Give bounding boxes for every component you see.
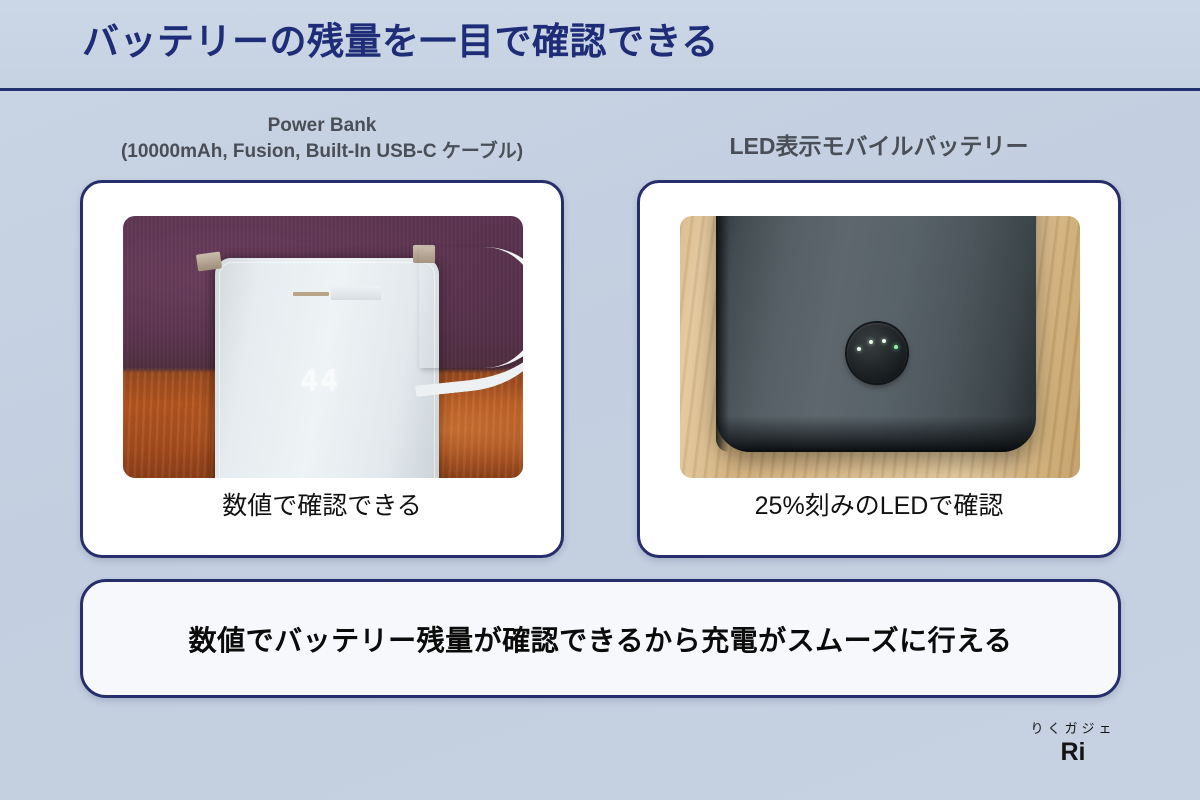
watermark-logo-text: Ri	[1008, 738, 1138, 767]
card-caption-right: 25%刻みのLEDで確認	[640, 486, 1118, 522]
card-caption-left: 数値で確認できる	[83, 486, 561, 522]
header-divider	[0, 88, 1200, 91]
column-heading-right: LED表示モバイルバッテリー	[637, 131, 1121, 162]
summary-banner-text: 数値でバッテリー残量が確認できるから充電がスムーズに行える	[189, 619, 1013, 659]
slide-canvas: バッテリーの残量を一目で確認できる Power Bank (10000mAh, …	[0, 0, 1200, 800]
usb-port-housing	[331, 286, 380, 300]
white-power-bank-photo: 44	[123, 216, 523, 478]
column-heading-left: Power Bank (10000mAh, Fusion, Built-In U…	[80, 113, 564, 164]
led-indicator-dot-4	[894, 345, 898, 349]
led-indicator-dot-2	[869, 340, 873, 344]
header-bar: バッテリーの残量を一目で確認できる	[0, 0, 1200, 89]
brand-watermark: りくガジェ Ri	[1008, 722, 1138, 767]
watermark-kana: りくガジェ	[1008, 722, 1138, 736]
summary-banner: 数値でバッテリー残量が確認できるから充電がスムーズに行える	[80, 579, 1121, 698]
column-heading-left-line1: Power Bank	[80, 113, 564, 139]
page-title: バッテリーの残量を一目で確認できる	[82, 19, 719, 65]
product-card-left: 44 数値で確認できる	[80, 180, 564, 558]
power-bank-side-edge	[716, 216, 729, 452]
white-power-bank-body: 44	[215, 258, 439, 478]
cable-slot	[293, 292, 329, 296]
usb-connector-left-icon	[196, 251, 222, 271]
led-indicator-dot-3	[882, 339, 886, 343]
column-heading-left-line2: (10000mAh, Fusion, Built-In USB-C ケーブル)	[80, 139, 564, 165]
dark-power-bank-photo	[680, 216, 1080, 478]
battery-percentage-display: 44	[300, 364, 340, 399]
column-heading-right-line1: LED表示モバイルバッテリー	[637, 131, 1121, 162]
led-indicator-dot-1	[857, 347, 861, 351]
product-card-right: 25%刻みのLEDで確認	[637, 180, 1121, 558]
usb-cable-lower	[406, 288, 523, 397]
power-button-icon	[847, 323, 907, 383]
dark-power-bank-body	[716, 216, 1036, 452]
